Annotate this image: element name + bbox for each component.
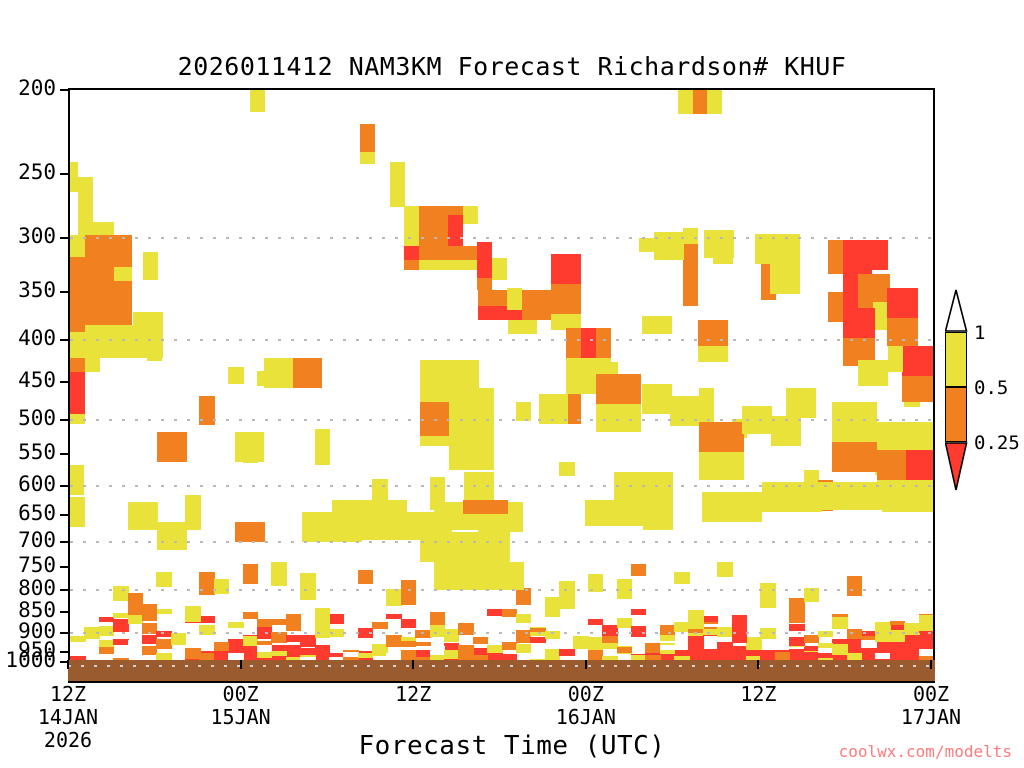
surface-stripe-58-0 (904, 652, 920, 657)
surface-stripe-1-1 (84, 627, 100, 637)
surface-stripe-37-4 (602, 625, 618, 635)
surface-stripe-36-2 (588, 650, 604, 660)
midlevel-cell-4 (128, 593, 144, 615)
heatmap-cell-top-93 (449, 388, 494, 430)
surface-stripe-2-1 (99, 640, 115, 647)
y-tick-label-700: 700 (0, 530, 56, 551)
surface-stripe-53-1 (832, 644, 848, 655)
upper-cell-8 (185, 495, 201, 531)
heatmap-cell-top-67 (698, 320, 728, 346)
midlevel-cell-23 (401, 580, 417, 606)
midlevel-cell-48 (760, 583, 776, 608)
surface-stripe-56-0 (875, 633, 891, 642)
midlevel-cell-54 (847, 576, 863, 596)
surface-stripe-32-1 (530, 637, 546, 643)
heatmap-cell-top-37 (70, 465, 84, 495)
surface-gap-52 (818, 648, 834, 653)
surface-stripe-31-2 (516, 644, 532, 653)
surface-stripe-43-3 (688, 642, 704, 647)
heatmap-cell-top-60 (683, 228, 698, 244)
x-tick-label-group-3: 00Z16JAN (526, 683, 646, 729)
surface-gap-55 (861, 640, 877, 647)
surface-stripe-26-3 (444, 636, 460, 642)
midlevel-cell-22 (386, 589, 402, 606)
heatmap-cell-top-90 (420, 402, 450, 436)
heatmap-cell-top-100 (434, 562, 524, 590)
y-tick-250 (60, 173, 70, 175)
surface-stripe-21-0 (372, 644, 388, 656)
surface-stripe-36-1 (588, 619, 604, 625)
heatmap-cell-top-96 (449, 472, 464, 500)
x-tick-time-1: 00Z (181, 683, 301, 706)
heatmap-cell-top-58 (596, 404, 641, 432)
colorbar-label-025: 0.25 (974, 434, 1020, 453)
surface-stripe-54-0 (847, 629, 863, 640)
surface-stripe-51-0 (804, 635, 820, 643)
x-tick-date-3: 16JAN (526, 706, 646, 729)
y-tick-label-650: 650 (0, 503, 56, 524)
surface-stripe-27-2 (458, 623, 474, 634)
surface-gap-19 (343, 652, 359, 658)
x-tick-3 (585, 660, 587, 669)
surface-stripe-18-2 (329, 629, 345, 638)
surface-gap-56 (875, 653, 891, 659)
surface-stripe-29-1 (487, 609, 503, 616)
y-tick-label-1000: 1000 (0, 650, 56, 671)
heatmap-cell-top-103 (670, 396, 700, 426)
heatmap-cell-top-7 (693, 90, 707, 114)
y-tick-label-250: 250 (0, 162, 56, 183)
gridline-over-400 (70, 339, 933, 341)
surface-stripe-57-0 (890, 630, 906, 641)
colorbar-bottom-arrow-icon (945, 442, 975, 492)
y-tick-950 (60, 651, 70, 653)
heatmap-cell-top-29 (70, 372, 85, 414)
y-tick-label-850: 850 (0, 600, 56, 621)
surface-stripe-40-1 (645, 643, 661, 652)
surface-stripe-17-0 (315, 645, 331, 653)
surface-gap-4 (128, 640, 144, 651)
colorbar-legend: 1 0.5 0.25 (941, 288, 971, 486)
surface-stripe-52-0 (818, 631, 834, 637)
heatmap-cell-top-128 (822, 482, 882, 510)
heatmap-cell-top-1 (70, 162, 78, 192)
surface-stripe-0-1 (70, 636, 86, 643)
surface-stripe-37-3 (602, 643, 618, 649)
midlevel-cell-15 (286, 614, 302, 632)
midlevel-cell-5 (142, 604, 158, 621)
surface-stripe-48-1 (760, 654, 776, 660)
surface-stripe-8-1 (185, 648, 201, 660)
y-tick-label-750: 750 (0, 555, 56, 576)
surface-stripe-32-3 (530, 628, 546, 633)
heatmap-cell-top-121 (235, 522, 265, 542)
surface-stripe-47-2 (746, 637, 762, 650)
y-tick-300 (60, 237, 70, 239)
surface-stripe-34-2 (559, 649, 575, 655)
midlevel-cell-20 (358, 570, 374, 585)
heatmap-cell-top-117 (128, 502, 158, 530)
heatmap-cell-top-18 (70, 235, 85, 257)
heatmap-cell-top-59 (539, 394, 568, 424)
heatmap-cell-top-32 (147, 343, 162, 361)
midlevel-cell-17 (315, 608, 331, 637)
x-tick-date-5: 17JAN (871, 706, 991, 729)
x-tick-label-group-4: 12Z (698, 683, 818, 706)
surface-stripe-11-1 (228, 622, 244, 628)
y-tick-label-300: 300 (0, 226, 56, 247)
heatmap-cell-top-104 (699, 388, 714, 422)
heatmap-cell-top-11 (463, 206, 478, 224)
heatmap-cell-top-113 (877, 450, 907, 480)
y-tick-500 (60, 419, 70, 421)
surface-stripe-2-0 (99, 647, 115, 654)
midlevel-cell-39 (631, 564, 647, 576)
surface-stripe-51-2 (804, 652, 820, 658)
heatmap-cell-top-78 (828, 292, 843, 322)
heatmap-cell-top-40 (477, 278, 492, 290)
terrain-band (68, 660, 935, 683)
midlevel-cell-8 (185, 606, 201, 622)
surface-stripe-14-1 (271, 619, 287, 625)
surface-stripe-18-0 (329, 614, 345, 624)
heatmap-cell-top-31 (114, 343, 147, 358)
y-tick-label-500: 500 (0, 408, 56, 429)
heatmap-cell-top-111 (832, 442, 877, 472)
heatmap-cell-top-55 (566, 394, 581, 424)
heatmap-cell-top-48 (551, 284, 581, 298)
heatmap-cell-top-68 (698, 346, 728, 362)
heatmap-cell-top-22 (85, 279, 132, 325)
surface-stripe-25-1 (430, 625, 446, 637)
surface-stripe-22-2 (386, 614, 402, 618)
x-tick-label-group-5: 00Z17JAN (871, 683, 991, 729)
heatmap-cell-top-36 (157, 432, 187, 462)
x-tick-time-5: 00Z (871, 683, 991, 706)
heatmap-cell-top-123 (585, 500, 645, 526)
heatmap-cell-top-69 (713, 234, 733, 264)
heatmap-cell-top-83 (887, 318, 918, 346)
surface-stripe-9-2 (199, 616, 215, 623)
x-tick-date-0: 14JAN (8, 706, 128, 729)
midlevel-cell-51 (804, 588, 820, 601)
surface-stripe-36-0 (588, 637, 604, 650)
surface-stripe-7-0 (171, 633, 187, 645)
heatmap-cell-top-118 (302, 512, 362, 542)
heatmap-cell-top-3 (360, 152, 375, 164)
heatmap-cell-top-63 (639, 238, 654, 252)
x-tick-time-2: 12Z (353, 683, 473, 706)
y-tick-850 (60, 611, 70, 613)
y-tick-800 (60, 589, 70, 591)
surface-stripe-6-0 (156, 631, 172, 637)
heatmap-cell-top-62 (654, 232, 684, 260)
heatmap-cell-top-95 (464, 472, 494, 502)
surface-stripe-57-2 (890, 621, 906, 625)
heatmap-canvas (70, 90, 933, 662)
heatmap-cell-top-110 (832, 402, 877, 442)
heatmap-cell-top-20 (85, 222, 114, 235)
y-tick-700 (60, 541, 70, 543)
heatmap-cell-top-125 (643, 472, 673, 530)
y-tick-200 (60, 89, 70, 91)
heatmap-cell-top-76 (858, 240, 888, 270)
y-tick-label-350: 350 (0, 280, 56, 301)
surface-stripe-58-1 (904, 623, 920, 635)
heatmap-cell-top-35 (293, 358, 322, 388)
midlevel-cell-50 (789, 598, 805, 624)
midlevel-cell-14 (271, 562, 287, 586)
surface-stripe-5-2 (142, 623, 158, 634)
heatmap-cell-top-25 (70, 332, 85, 358)
surface-stripe-15-1 (286, 645, 302, 649)
surface-stripe-26-4 (444, 650, 460, 659)
midlevel-cell-3 (113, 586, 129, 601)
y-tick-label-200: 200 (0, 78, 56, 99)
heatmap-cell-top-101 (463, 500, 508, 514)
colorbar-segment-yellow (945, 332, 967, 387)
surface-stripe-5-1 (142, 635, 158, 644)
y-tick-400 (60, 339, 70, 341)
heatmap-cell-top-53 (596, 328, 611, 358)
heatmap-cell-top-61 (683, 244, 698, 306)
surface-stripe-42-1 (674, 622, 690, 631)
surface-stripe-2-2 (99, 626, 115, 637)
colorbar-label-05: 0.5 (974, 379, 1008, 398)
heatmap-cell-top-94 (449, 430, 494, 470)
watermark-link[interactable]: coolwx.com/modelts (839, 742, 1012, 761)
heatmap-cell-top-91 (420, 436, 450, 446)
surface-stripe-38-1 (617, 618, 633, 628)
surface-stripe-21-1 (372, 622, 388, 629)
heatmap-cell-top-9 (404, 206, 419, 224)
heatmap-cell-top-129 (882, 482, 933, 512)
colorbar-top-arrow-icon (945, 288, 975, 332)
surface-stripe-48-2 (760, 628, 776, 635)
chart-title: 2026011412 NAM3KM Forecast Richardson# K… (0, 52, 1024, 81)
gridline-over-300 (70, 237, 933, 239)
x-tick-label-group-1: 00Z15JAN (181, 683, 301, 729)
surface-stripe-5-0 (142, 646, 158, 655)
y-tick-label-800: 800 (0, 578, 56, 599)
heatmap-cell-top-30 (85, 358, 100, 372)
heatmap-cell-top-109 (786, 388, 816, 418)
x-tick-time-3: 00Z (526, 683, 646, 706)
surface-stripe-39-3 (631, 626, 647, 637)
x-tick-5 (930, 660, 932, 669)
midlevel-cell-34 (559, 581, 575, 610)
surface-stripe-31-1 (516, 614, 532, 623)
heatmap-cell-top-52 (581, 328, 596, 358)
surface-stripe-31-0 (516, 630, 532, 643)
heatmap-cell-top-21 (70, 257, 85, 332)
heatmap-cell-top-34 (264, 358, 293, 388)
surface-gap-25 (430, 646, 446, 655)
surface-stripe-57-3 (890, 648, 906, 658)
heatmap-cell-top-70 (770, 234, 800, 264)
surface-stripe-33-1 (545, 631, 561, 638)
x-tick-4 (757, 660, 759, 669)
heatmap-cell-top-122 (70, 497, 85, 527)
surface-gap-59 (919, 649, 933, 656)
heatmap-cell-top-6 (678, 90, 693, 114)
heatmap-cell-top-33 (70, 414, 85, 424)
surface-stripe-53-3 (832, 617, 848, 627)
surface-stripe-23-2 (401, 637, 417, 641)
midlevel-cell-16 (300, 573, 316, 600)
heatmap-cell-top-28 (70, 358, 85, 372)
heatmap-cell-top-57 (596, 374, 641, 404)
surface-stripe-9-1 (199, 625, 215, 636)
upper-cell-34 (559, 462, 575, 476)
surface-gap-11 (228, 653, 244, 660)
heatmap-cell-top-23 (114, 267, 132, 281)
midlevel-cell-6 (156, 572, 172, 588)
surface-stripe-10-2 (214, 649, 230, 660)
colorbar-label-1: 1 (974, 324, 985, 343)
terrain-gridline (68, 665, 935, 667)
x-tick-time-4: 12Z (698, 683, 818, 706)
heatmap-cell-top-12 (448, 215, 463, 246)
heatmap-cell-top-73 (770, 264, 800, 294)
chart-page: 2026011412 NAM3KM Forecast Richardson# K… (0, 0, 1024, 768)
heatmap-cell-top-87 (888, 346, 903, 372)
heatmap-cell-top-89 (420, 360, 450, 402)
heatmap-cell-top-15 (419, 246, 479, 260)
y-tick-label-400: 400 (0, 328, 56, 349)
heatmap-cell-top-116 (157, 522, 187, 550)
surface-stripe-29-0 (487, 645, 503, 653)
y-tick-label-600: 600 (0, 474, 56, 495)
heatmap-cell-top-38 (235, 432, 264, 462)
heatmap-cell-top-49 (536, 298, 581, 314)
heatmap-cell-top-126 (702, 492, 762, 522)
midlevel-cell-31 (516, 588, 532, 605)
heatmap-cell-top-75 (828, 240, 843, 274)
surface-stripe-27-3 (458, 645, 474, 655)
surface-stripe-2-3 (99, 617, 115, 622)
heatmap-cell-top-39 (477, 242, 492, 278)
surface-stripe-44-3 (703, 629, 719, 635)
surface-stripe-39-1 (631, 609, 647, 615)
heatmap-cell-top-24 (143, 252, 158, 280)
heatmap-cell-top-107 (742, 406, 772, 434)
midlevel-cell-10 (214, 579, 230, 594)
y-tick-label-550: 550 (0, 442, 56, 463)
heatmap-cell-top-85 (902, 376, 933, 402)
heatmap-cell-top-82 (887, 288, 918, 318)
upper-cell-17 (315, 429, 331, 465)
heatmap-cell-top-81 (843, 308, 875, 338)
surface-stripe-56-2 (875, 622, 891, 633)
midlevel-cell-45 (717, 562, 733, 577)
surface-stripe-20-0 (358, 653, 374, 657)
y-tick-650 (60, 514, 70, 516)
upper-cell-31 (516, 402, 532, 421)
heatmap-cell-top-46 (508, 320, 537, 334)
colorbar-segment-orange (945, 387, 967, 442)
heatmap-cell-top-127 (762, 482, 822, 512)
surface-stripe-25-3 (430, 612, 446, 623)
heatmap-cell-top-92 (449, 360, 479, 388)
heatmap-cell-top-105 (699, 422, 744, 452)
surface-gap-13 (257, 645, 273, 652)
surface-stripe-16-0 (300, 635, 316, 646)
heatmap-cell-top-88 (858, 360, 888, 386)
surface-stripe-50-2 (789, 624, 805, 631)
surface-stripe-30-2 (502, 609, 518, 617)
heatmap-cell-top-44 (507, 288, 522, 310)
surface-stripe-14-3 (271, 651, 287, 656)
y-tick-900 (60, 632, 70, 634)
heatmap-cell-top-102 (642, 384, 672, 414)
midlevel-cell-33 (545, 597, 561, 617)
heatmap-cell-top-108 (771, 416, 801, 446)
surface-stripe-30-1 (502, 643, 518, 649)
surface-stripe-13-2 (257, 627, 273, 638)
surface-stripe-35-2 (573, 636, 589, 644)
heatmap-cell-top-43 (492, 258, 507, 280)
plot-area (68, 88, 935, 664)
heatmap-cell-top-112 (877, 422, 933, 450)
surface-stripe-28-0 (473, 637, 489, 644)
heatmap-cell-top-16 (404, 260, 419, 270)
x-tick-label-group-2: 12Z (353, 683, 473, 706)
x-tick-date-1: 15JAN (181, 706, 301, 729)
surface-stripe-44-4 (703, 616, 719, 622)
midlevel-cell-43 (688, 610, 704, 628)
midlevel-cell-46 (732, 615, 748, 643)
surface-stripe-24-2 (415, 642, 431, 646)
surface-stripe-38-2 (617, 647, 633, 653)
heatmap-cell-top-120 (362, 512, 452, 540)
x-tick-time-0: 12Z (8, 683, 128, 706)
y-tick-450 (60, 381, 70, 383)
surface-stripe-3-1 (113, 613, 129, 618)
x-tick-2 (412, 660, 414, 669)
surface-stripe-15-0 (286, 635, 302, 642)
surface-stripe-3-3 (113, 639, 129, 645)
surface-stripe-50-1 (789, 637, 805, 647)
heatmap-cell-top-71 (755, 234, 770, 264)
midlevel-cell-36 (588, 574, 604, 592)
surface-stripe-20-1 (358, 628, 374, 639)
y-tick-label-450: 450 (0, 370, 56, 391)
surface-stripe-45-1 (717, 627, 733, 637)
surface-stripe-24-1 (415, 630, 431, 638)
heatmap-cell-top-0 (250, 90, 265, 112)
y-tick-750 (60, 566, 70, 568)
surface-stripe-23-0 (401, 619, 417, 628)
surface-stripe-4-1 (128, 614, 144, 623)
x-tick-1 (240, 660, 242, 669)
y-tick-550 (60, 453, 70, 455)
x-tick-0 (67, 660, 69, 669)
heatmap-cell-top-114 (906, 450, 933, 480)
heatmap-cell-top-47 (551, 254, 581, 284)
surface-stripe-41-2 (660, 625, 676, 635)
heatmap-cell-top-17 (419, 260, 479, 270)
surface-stripe-10-3 (214, 642, 230, 651)
heatmap-cell-top-2 (360, 124, 375, 152)
heatmap-cell-top-106 (699, 452, 744, 480)
surface-stripe-6-2 (156, 639, 172, 649)
surface-stripe-3-0 (113, 619, 129, 632)
upper-cell-11 (228, 367, 244, 384)
upper-cell-9 (199, 396, 215, 425)
heatmap-cell-top-84 (902, 346, 933, 376)
y-tick-600 (60, 485, 70, 487)
